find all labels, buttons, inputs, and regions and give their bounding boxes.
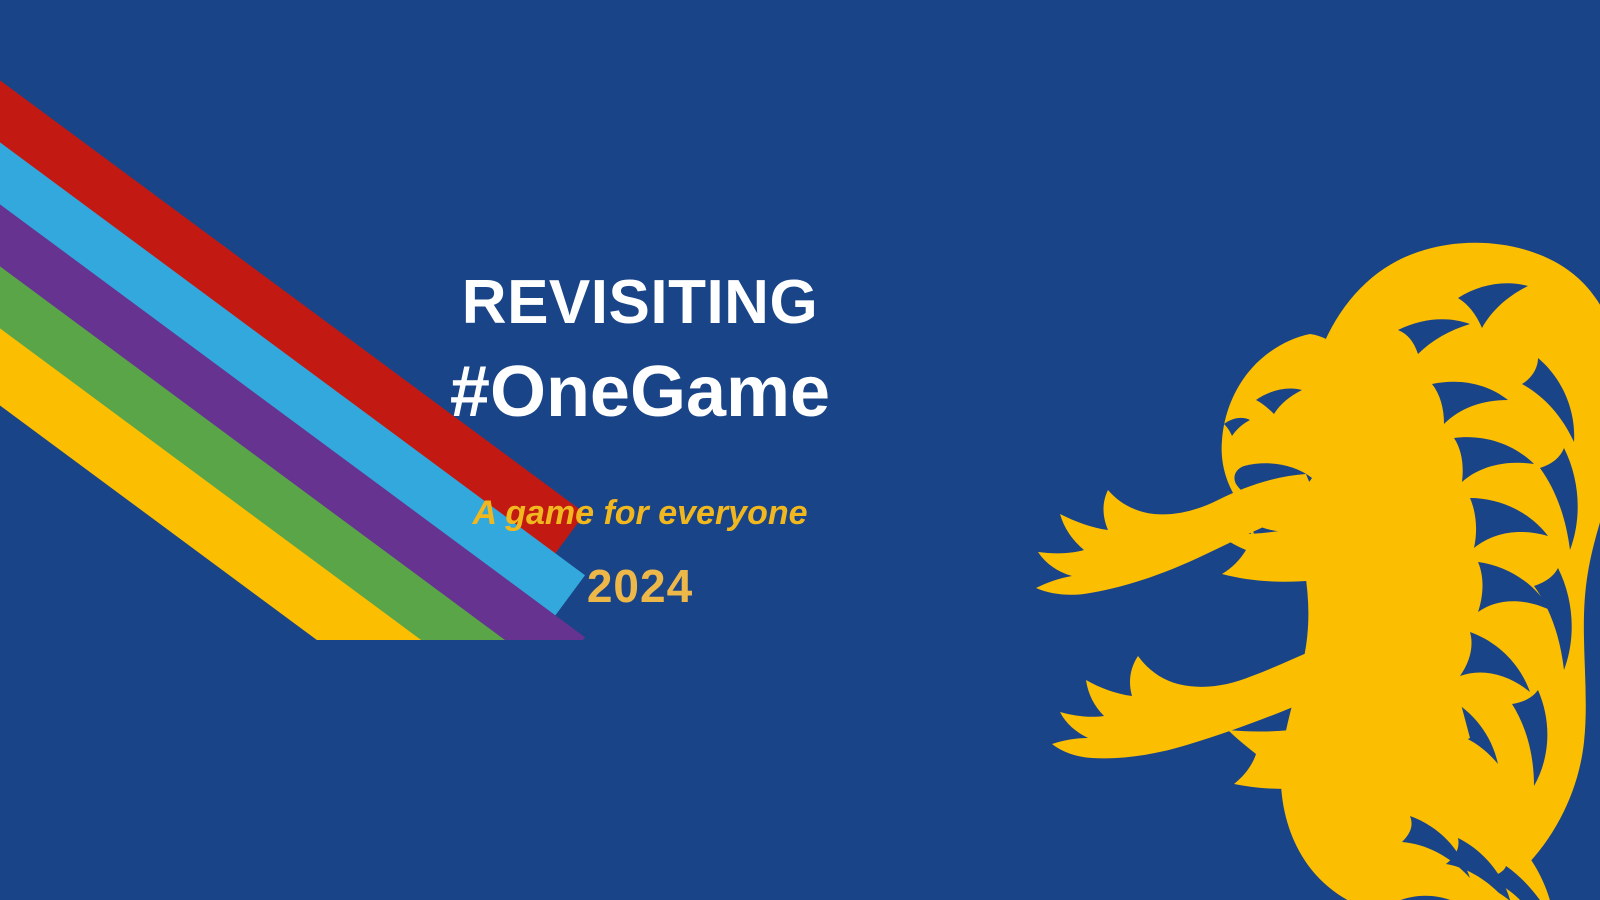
title-slide: REVISITING #OneGame A game for everyone …	[0, 0, 1600, 900]
slide-year: 2024	[240, 559, 1040, 613]
lion-mascot-icon	[1018, 238, 1600, 900]
page-title-line-2: #OneGame	[240, 353, 1040, 432]
slide-text-block: REVISITING #OneGame A game for everyone …	[240, 270, 1040, 613]
page-title-line-1: REVISITING	[240, 270, 1040, 337]
slide-subtitle: A game for everyone	[240, 494, 1040, 533]
